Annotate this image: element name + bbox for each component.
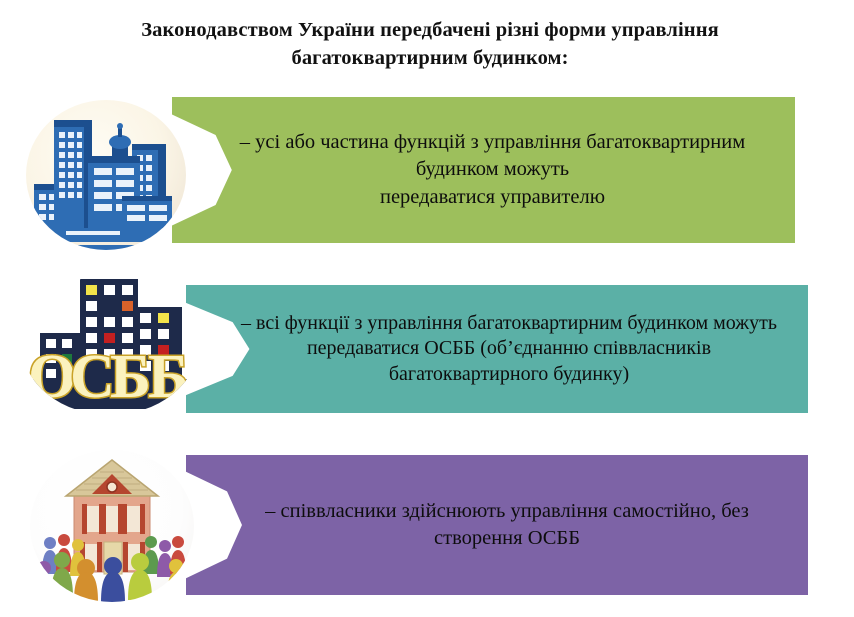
svg-text:О: О <box>28 343 76 411</box>
content-row-upravytel: – усі або частина функцій з управління б… <box>0 92 854 252</box>
city-buildings-icon <box>26 100 186 250</box>
banner-text-spivvlasnyky: – співвласники здійснюють управління сам… <box>186 498 808 552</box>
svg-text:С: С <box>70 343 115 411</box>
banner-spivvlasnyky[interactable]: – співвласники здійснюють управління сам… <box>186 455 808 595</box>
banner-osbb[interactable]: – всі функції з управління багатоквартир… <box>186 285 808 413</box>
page-title: Законодавством України передбачені різні… <box>60 16 800 73</box>
slide-root: Законодавством України передбачені різні… <box>0 0 854 617</box>
svg-text:Б: Б <box>148 343 189 411</box>
banner-upravytel[interactable]: – усі або частина функцій з управління б… <box>172 97 795 243</box>
content-row-spivvlasnyky: – співвласники здійснюють управління сам… <box>0 440 854 600</box>
house-with-people-icon <box>30 450 194 602</box>
svg-text:Б: Б <box>110 343 151 411</box>
banner-text-osbb: – всі функції з управління багатоквартир… <box>186 311 808 388</box>
content-row-osbb: – всі функції з управління багатоквартир… <box>0 275 854 420</box>
banner-text-upravytel: – усі або частина функцій з управління б… <box>172 129 795 211</box>
osbb-logo-icon: О С Б Б <box>22 275 198 415</box>
